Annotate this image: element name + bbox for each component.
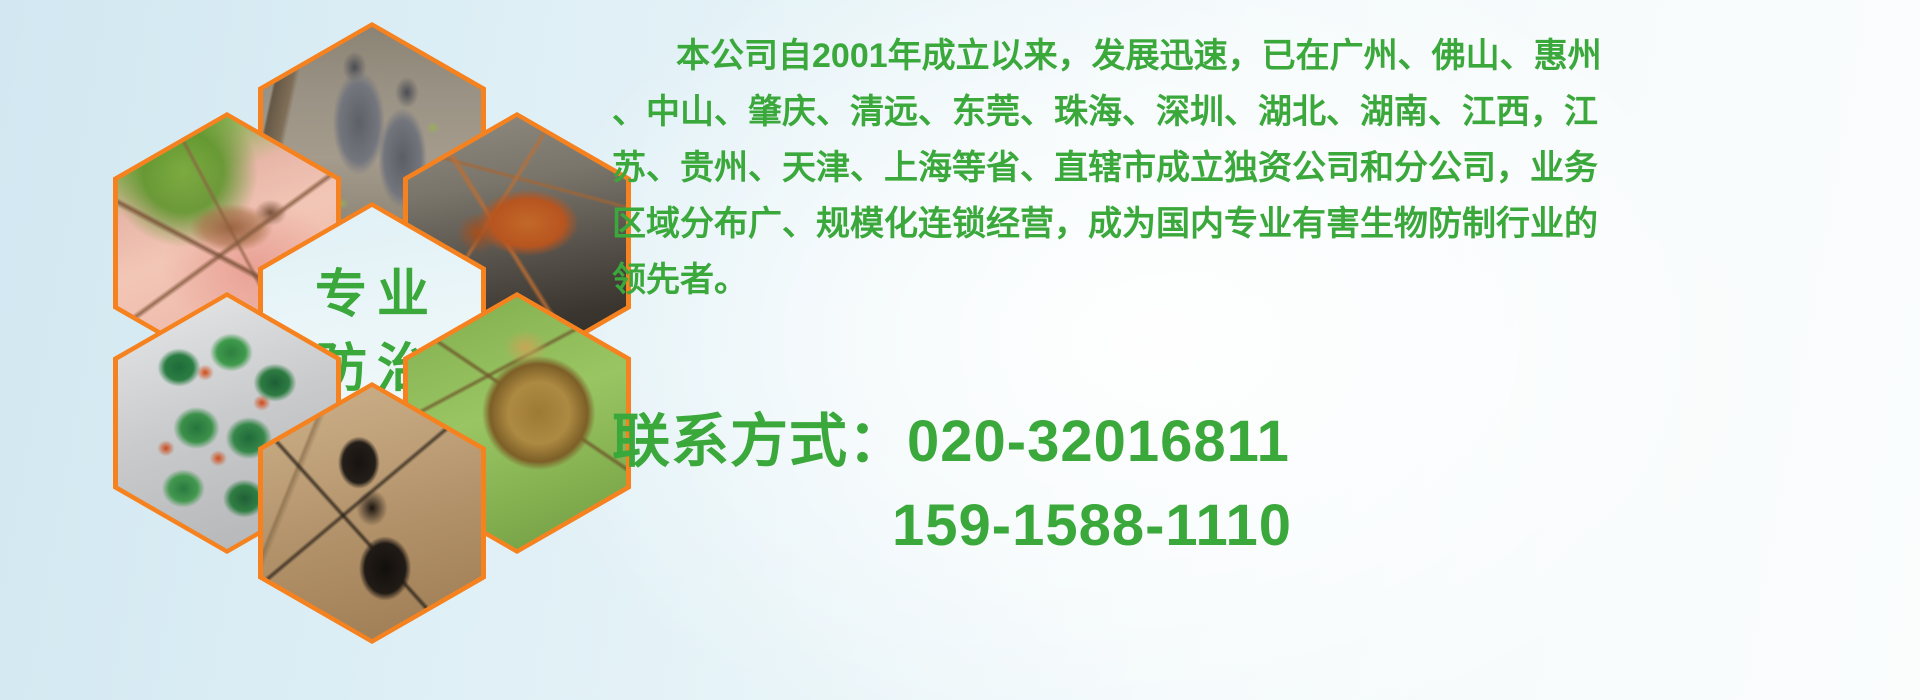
intro-line-4: 区域分布广、规模化连锁经营，成为国内专业有害生物防制行业的 [612, 196, 1908, 252]
intro-line-1: 本公司自2001年成立以来，发展迅速，已在广州、佛山、惠州 [612, 28, 1908, 84]
intro-line-5: 领先者。 [612, 252, 1908, 308]
intro-paragraph: 本公司自2001年成立以来，发展迅速，已在广州、佛山、惠州 、中山、肇庆、清远、… [612, 28, 1908, 308]
intro-line-2: 、中山、肇庆、清远、东莞、珠海、深圳、湖北、湖南、江西，江 [612, 84, 1908, 140]
contact-block: 联系方式：020-32016811 159-1588-1110 [612, 400, 1908, 568]
contact-line-mobile[interactable]: 159-1588-1110 [612, 484, 1908, 568]
intro-copy: 本公司自2001年成立以来，发展迅速，已在广州、佛山、惠州 、中山、肇庆、清远、… [612, 28, 1908, 308]
banner-canvas: 专业 防治 本公司自2001年成立以来，发展迅速，已在广州、 [0, 0, 1920, 700]
badge-line-1: 专业 [305, 259, 439, 333]
intro-line-3: 苏、贵州、天津、上海等省、直辖市成立独资公司和分公司，业务 [612, 140, 1908, 196]
contact-line-landline[interactable]: 联系方式：020-32016811 [612, 400, 1908, 484]
